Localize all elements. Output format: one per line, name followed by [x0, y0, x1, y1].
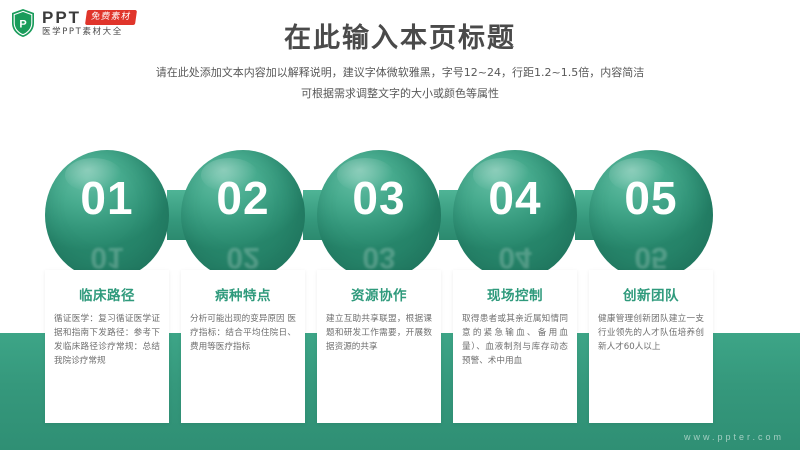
step-card-heading-2: 病种特点	[181, 270, 305, 312]
step-number-reflection-03: 03	[317, 242, 441, 272]
step-number-03: 03	[317, 175, 441, 221]
step-number-reflection-02: 02	[181, 242, 305, 272]
step-cards: 临床路径 循证医学：复习循证医学证据和指南下发路径：参考下发临床路径诊疗常规：总…	[0, 270, 800, 425]
step-number-reflection-01: 01	[45, 242, 169, 272]
step-card-3[interactable]: 资源协作 建立互助共享联盟，根据课题和研发工作需要，开展数据资源的共享	[317, 270, 441, 423]
step-number-01: 01	[45, 175, 169, 221]
step-circle-chain: 01 01 02 02 03 03 04 04	[0, 150, 800, 280]
step-number-04: 04	[453, 175, 577, 221]
step-card-1[interactable]: 临床路径 循证医学：复习循证医学证据和指南下发路径：参考下发临床路径诊疗常规：总…	[45, 270, 169, 423]
step-circle-04[interactable]: 04 04	[453, 150, 577, 280]
step-card-heading-4: 现场控制	[453, 270, 577, 312]
step-number-02: 02	[181, 175, 305, 221]
page-title: 在此输入本页标题	[0, 16, 800, 55]
step-node-4[interactable]: 04 04	[453, 150, 577, 280]
step-circle-02[interactable]: 02 02	[181, 150, 305, 280]
step-node-2[interactable]: 02 02	[181, 150, 305, 280]
subtitle-line-1: 请在此处添加文本内容加以解释说明，建议字体微软雅黑，字号12~24，行距1.2~…	[0, 62, 800, 83]
step-card-body-4: 取得患者或其亲近属知情同意的紧急输血、备用血量）、血液制剂与库存动态预警、术中用…	[453, 312, 577, 368]
step-card-body-2: 分析可能出现的变异原因 医疗指标：结合平均住院日、费用等医疗指标	[181, 312, 305, 354]
subtitle-line-2: 可根据需求调整文字的大小或颜色等属性	[0, 83, 800, 104]
step-node-1[interactable]: 01 01	[45, 150, 169, 280]
slide-canvas: P PPT 免费素材 医学PPT素材大全 在此输入本页标题 请在此处添加文本内容…	[0, 0, 800, 450]
step-card-body-1: 循证医学：复习循证医学证据和指南下发路径：参考下发临床路径诊疗常规：总结我院诊疗…	[45, 312, 169, 368]
step-number-reflection-05: 05	[589, 242, 713, 272]
step-card-heading-5: 创新团队	[589, 270, 713, 312]
site-watermark: www.ppter.com	[684, 432, 784, 442]
step-number-reflection-04: 04	[453, 242, 577, 272]
step-card-heading-3: 资源协作	[317, 270, 441, 312]
step-card-heading-1: 临床路径	[45, 270, 169, 312]
step-card-2[interactable]: 病种特点 分析可能出现的变异原因 医疗指标：结合平均住院日、费用等医疗指标	[181, 270, 305, 423]
step-card-body-5: 健康管理创新团队建立一支行业领先的人才队伍培养创新人才60人以上	[589, 312, 713, 354]
step-card-4[interactable]: 现场控制 取得患者或其亲近属知情同意的紧急输血、备用血量）、血液制剂与库存动态预…	[453, 270, 577, 423]
step-circle-05[interactable]: 05 05	[589, 150, 713, 280]
step-node-3[interactable]: 03 03	[317, 150, 441, 280]
step-card-body-3: 建立互助共享联盟，根据课题和研发工作需要，开展数据资源的共享	[317, 312, 441, 354]
step-circle-01[interactable]: 01 01	[45, 150, 169, 280]
step-node-5[interactable]: 05 05	[589, 150, 713, 280]
step-number-05: 05	[589, 175, 713, 221]
step-circle-03[interactable]: 03 03	[317, 150, 441, 280]
page-subtitle: 请在此处添加文本内容加以解释说明，建议字体微软雅黑，字号12~24，行距1.2~…	[0, 62, 800, 104]
step-card-5[interactable]: 创新团队 健康管理创新团队建立一支行业领先的人才队伍培养创新人才60人以上	[589, 270, 713, 423]
